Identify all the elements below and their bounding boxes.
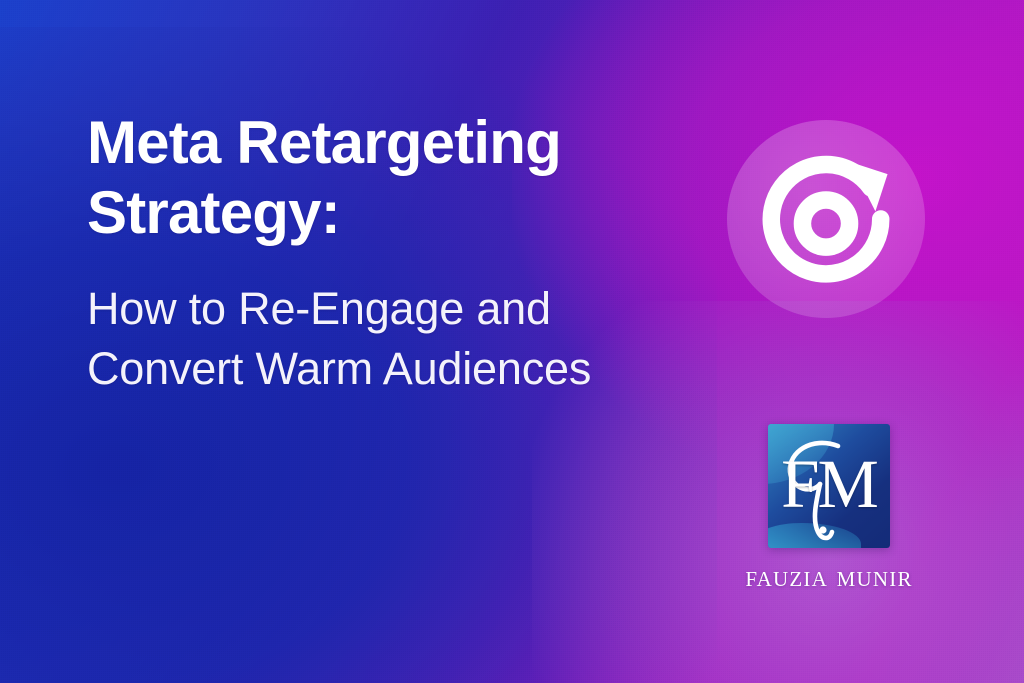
page-title: Meta Retargeting Strategy: — [87, 108, 727, 247]
hero-text-block: Meta Retargeting Strategy: How to Re-Eng… — [87, 108, 727, 399]
retargeting-icon-badge — [727, 120, 925, 318]
brand-name: Fauzia Munir — [745, 562, 912, 592]
page-subtitle: How to Re-Engage and Convert Warm Audien… — [87, 279, 727, 399]
logo-monogram: FM — [768, 450, 890, 519]
brand-lockup: FM Fauzia Munir — [700, 424, 958, 592]
retargeting-circular-arrow-icon — [750, 143, 902, 295]
slide-canvas: Meta Retargeting Strategy: How to Re-Eng… — [0, 0, 1024, 683]
fauzia-munir-logo-mark: FM — [768, 424, 890, 548]
